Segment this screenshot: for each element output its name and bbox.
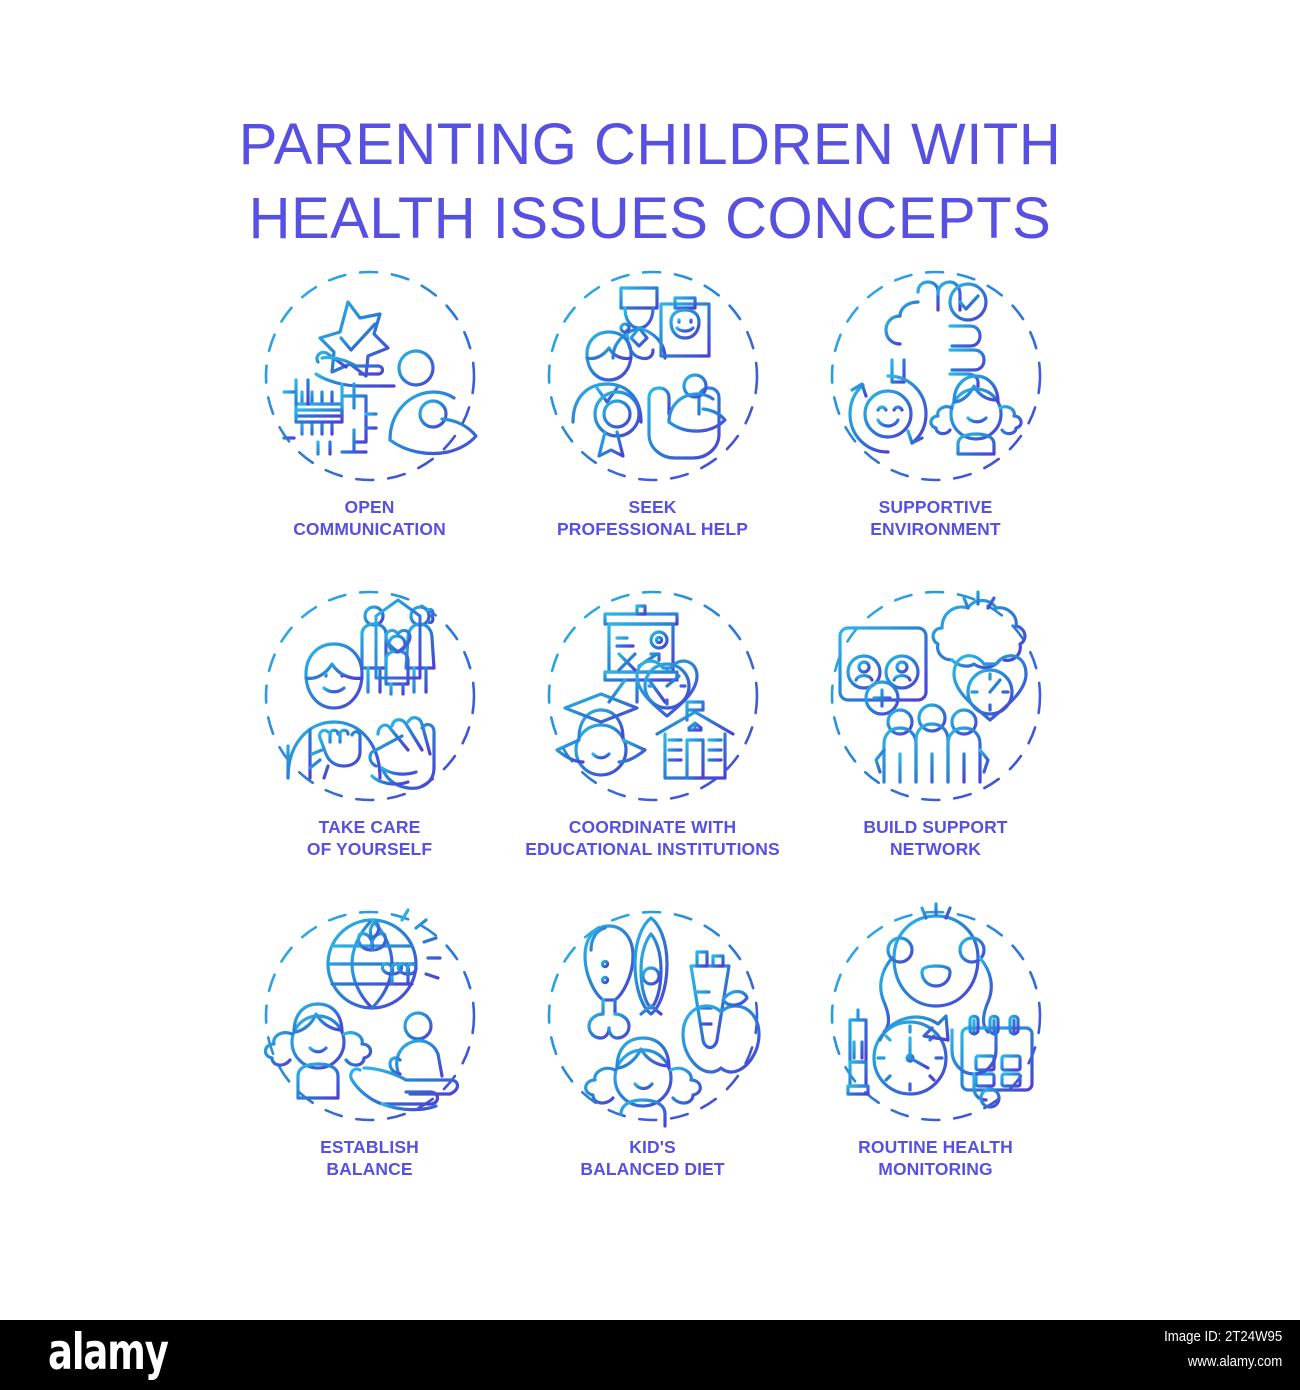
alamy-watermark-bar: alamy Image ID: 2T24W95 www.alamy.com [0, 1320, 1300, 1390]
concept-label: COORDINATE WITH EDUCATIONAL INSTITUTIONS [511, 816, 794, 861]
concept-card-coordinate-with-educational-institutions[interactable]: COORDINATE WITH EDUCATIONAL INSTITUTIONS [511, 582, 794, 902]
concept-label: BUILD SUPPORT NETWORK [794, 816, 1077, 861]
concept-label: KID'S BALANCED DIET [511, 1136, 794, 1181]
concept-card-open-communication[interactable]: OPEN COMMUNICATION [228, 262, 511, 582]
open-communication-icon [256, 262, 484, 490]
seek-professional-help-icon [539, 262, 767, 490]
concept-card-take-care-of-yourself[interactable]: TAKE CARE OF YOURSELF [228, 582, 511, 902]
concept-label: TAKE CARE OF YOURSELF [228, 816, 511, 861]
concepts-grid: OPEN COMMUNICATION [228, 262, 1078, 1222]
concept-card-kids-balanced-diet[interactable]: KID'S BALANCED DIET [511, 902, 794, 1222]
build-support-network-icon [822, 582, 1050, 810]
concept-label: ESTABLISH BALANCE [228, 1136, 511, 1181]
supportive-environment-icon [822, 262, 1050, 490]
establish-balance-icon [256, 902, 484, 1130]
concept-card-supportive-environment[interactable]: SUPPORTIVE ENVIRONMENT [794, 262, 1077, 582]
concept-card-establish-balance[interactable]: ESTABLISH BALANCE [228, 902, 511, 1222]
routine-health-monitoring-icon [822, 902, 1050, 1130]
concept-label: ROUTINE HEALTH MONITORING [794, 1136, 1077, 1181]
concept-label: SEEK PROFESSIONAL HELP [511, 496, 794, 541]
kids-balanced-diet-icon [539, 902, 767, 1130]
take-care-of-yourself-icon [256, 582, 484, 810]
poster-canvas: PARENTING CHILDREN WITH HEALTH ISSUES CO… [0, 0, 1300, 1320]
concept-card-routine-health-monitoring[interactable]: ROUTINE HEALTH MONITORING [794, 902, 1077, 1222]
concept-card-seek-professional-help[interactable]: SEEK PROFESSIONAL HELP [511, 262, 794, 582]
page-title: PARENTING CHILDREN WITH HEALTH ISSUES CO… [150, 108, 1150, 256]
website-text: www.alamy.com [1164, 1350, 1282, 1375]
concept-label: OPEN COMMUNICATION [228, 496, 511, 541]
footer-meta: Image ID: 2T24W95 www.alamy.com [1164, 1325, 1282, 1375]
concept-card-build-support-network[interactable]: BUILD SUPPORT NETWORK [794, 582, 1077, 902]
image-id-text: Image ID: 2T24W95 [1164, 1325, 1282, 1350]
coordinate-with-educational-institutions-icon [539, 582, 767, 810]
alamy-logo: alamy [48, 1326, 168, 1379]
concept-label: SUPPORTIVE ENVIRONMENT [794, 496, 1077, 541]
